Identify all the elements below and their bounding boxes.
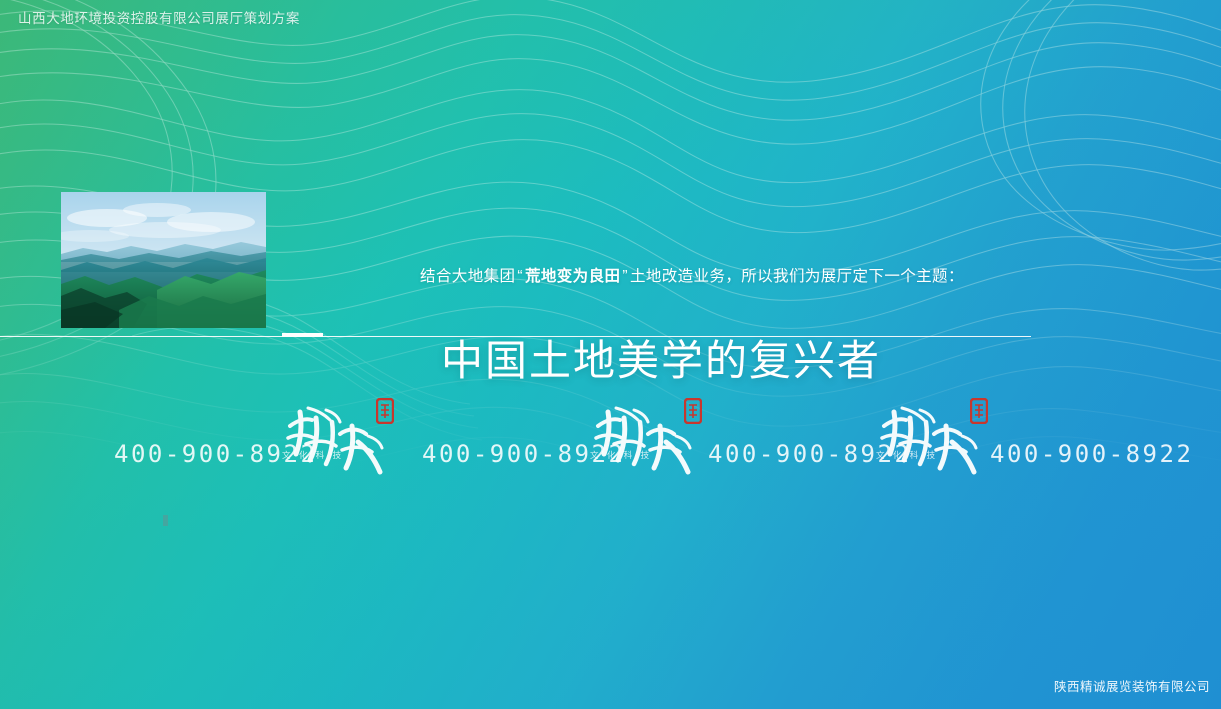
lead-paragraph: 结合大地集团“荒地变为良田”土地改造业务，所以我们为展厅定下一个主题：	[420, 265, 964, 288]
lead-suffix: 土地改造业务，所以我们为展厅定下一个主题：	[630, 268, 964, 285]
footer-company-name: 陕西精诚展览装饰有限公司	[1054, 676, 1210, 695]
quote-open: “	[515, 268, 525, 285]
cursor-artifact	[163, 515, 168, 526]
lead-prefix: 结合大地集团	[420, 268, 515, 285]
landscape-photo	[61, 192, 266, 328]
presentation-slide: 山西大地环境投资控股有限公司展厅策划方案	[0, 0, 1221, 709]
quote-close: ”	[620, 268, 630, 285]
headline-theme: 中国土地美学的复兴者	[441, 338, 881, 384]
lead-quoted-phrase: 荒地变为良田	[525, 268, 620, 285]
divider-accent-bar	[282, 333, 323, 337]
page-title: 山西大地环境投资控股有限公司展厅策划方案	[18, 7, 300, 27]
